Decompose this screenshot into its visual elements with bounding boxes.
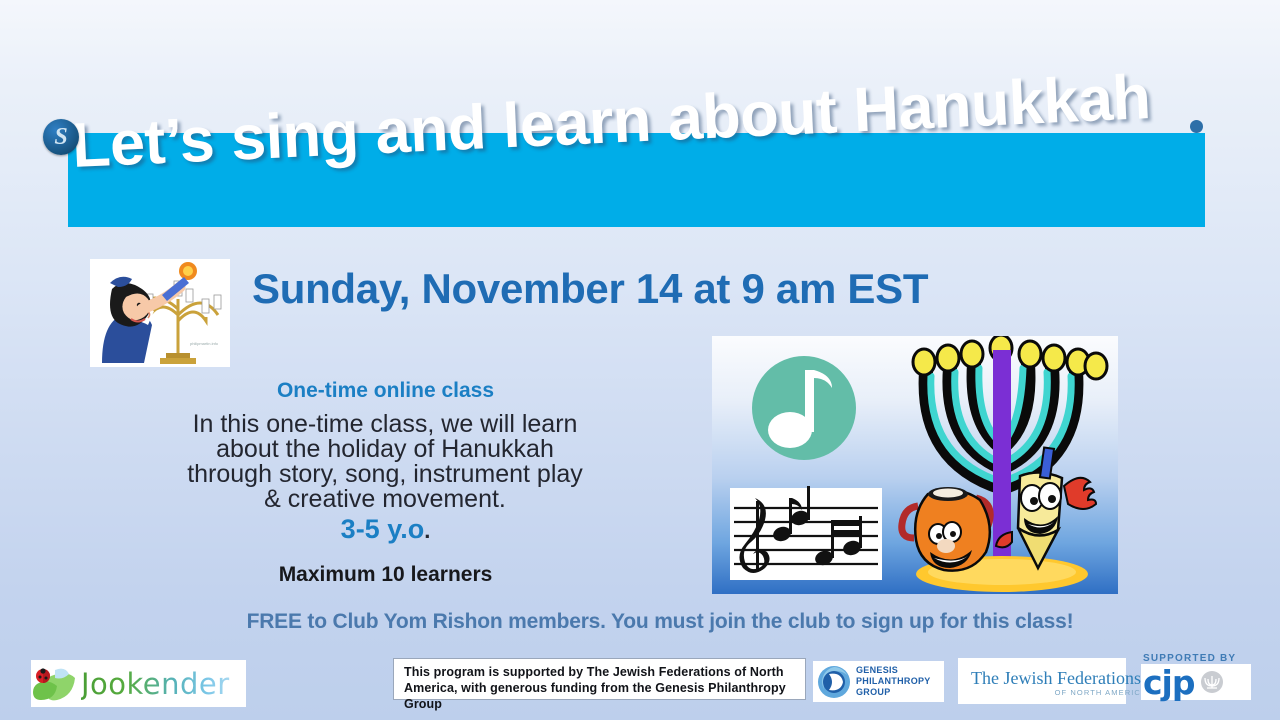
svg-text:philipmartin.info: philipmartin.info <box>190 341 219 346</box>
max-learners: Maximum 10 learners <box>163 563 608 587</box>
cjp-logo: SUPPORTED BY cjp <box>1141 653 1251 703</box>
boy-lighting-menorah-image: philipmartin.info <box>90 259 230 367</box>
age-range-value: 3-5 y.o <box>341 514 425 544</box>
music-note-circle <box>752 356 856 460</box>
genesis-line-1: GENESIS <box>856 665 931 676</box>
s-logo-badge: S <box>43 119 79 155</box>
age-range: 3-5 y.o. <box>163 514 608 545</box>
jfna-name: The Jewish Federations® <box>971 665 1147 688</box>
membership-note: FREE to Club Yom Rishon members. You mus… <box>130 610 1190 634</box>
hanukkah-music-illustration <box>712 336 1118 594</box>
genesis-wordmark: GENESIS PHILANTHROPY GROUP <box>856 665 931 698</box>
jfna-subtitle: OF NORTH AMERICA <box>971 688 1147 697</box>
class-type-label: One-time online class <box>163 379 608 403</box>
jewish-federations-logo: The Jewish Federations® OF NORTH AMERICA <box>958 658 1126 704</box>
class-description-line-3: through story, song, instrument play <box>150 462 620 487</box>
class-description-line-1: In this one-time class, we will learn <box>150 412 620 437</box>
jookender-logo: Jookender <box>31 660 246 707</box>
jfna-text-block: The Jewish Federations® OF NORTH AMERICA <box>971 665 1147 697</box>
oil-jug-character <box>902 487 990 571</box>
banner-corner-dot <box>1190 120 1203 133</box>
support-statement-line-2: America, with generous funding from the … <box>404 680 797 712</box>
genesis-line-2: PHILANTHROPY <box>856 676 931 687</box>
event-datetime: Sunday, November 14 at 9 am EST <box>252 265 928 313</box>
age-range-period: . <box>424 518 430 543</box>
class-description-line-4: & creative movement. <box>150 487 620 512</box>
class-description: In this one-time class, we will learn ab… <box>150 412 620 512</box>
jfna-name-text: The Jewish Federations <box>971 668 1141 688</box>
genesis-philanthropy-group-logo: GENESIS PHILANTHROPY GROUP <box>813 661 944 702</box>
menorah-icon <box>1200 670 1224 694</box>
s-badge-glyph: S <box>54 125 67 149</box>
ladybug-leaf-icon <box>31 664 77 704</box>
cjp-wordmark: cjp <box>1143 666 1195 699</box>
boy-menorah-svg: philipmartin.info <box>90 259 230 367</box>
support-statement-box: This program is supported by The Jewish … <box>393 658 806 700</box>
cjp-wordmark-box: cjp <box>1141 664 1251 700</box>
class-description-line-2: about the holiday of Hanukkah <box>150 437 620 462</box>
hanukkah-illustration-svg <box>712 336 1118 594</box>
jookender-wordmark: Jookender <box>81 667 230 701</box>
support-statement-line-1: This program is supported by The Jewish … <box>404 664 797 680</box>
genesis-line-3: GROUP <box>856 687 931 698</box>
genesis-swirl-icon <box>817 665 851 699</box>
